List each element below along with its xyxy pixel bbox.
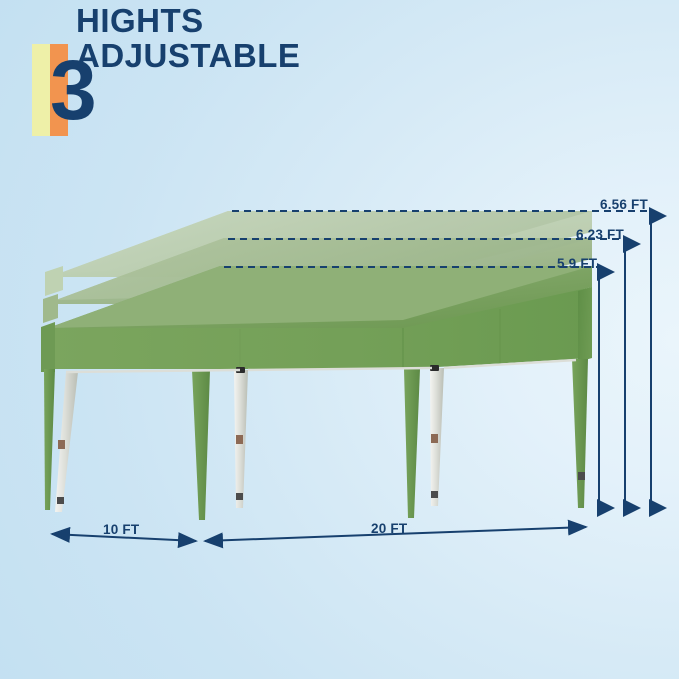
height-label-high: 6.56 FT xyxy=(600,197,648,212)
height-label-medium: 6.23 FT xyxy=(576,227,624,242)
footprint-label-length: 20 FT xyxy=(371,521,407,536)
height-label-low: 5.9 FT xyxy=(557,256,597,271)
footprint-label-depth: 10 FT xyxy=(103,522,139,537)
dimension-annotations xyxy=(0,0,679,679)
infographic-canvas: 3 HIGHTS ADJUSTABLE xyxy=(0,0,679,679)
height-arrows xyxy=(599,216,651,508)
